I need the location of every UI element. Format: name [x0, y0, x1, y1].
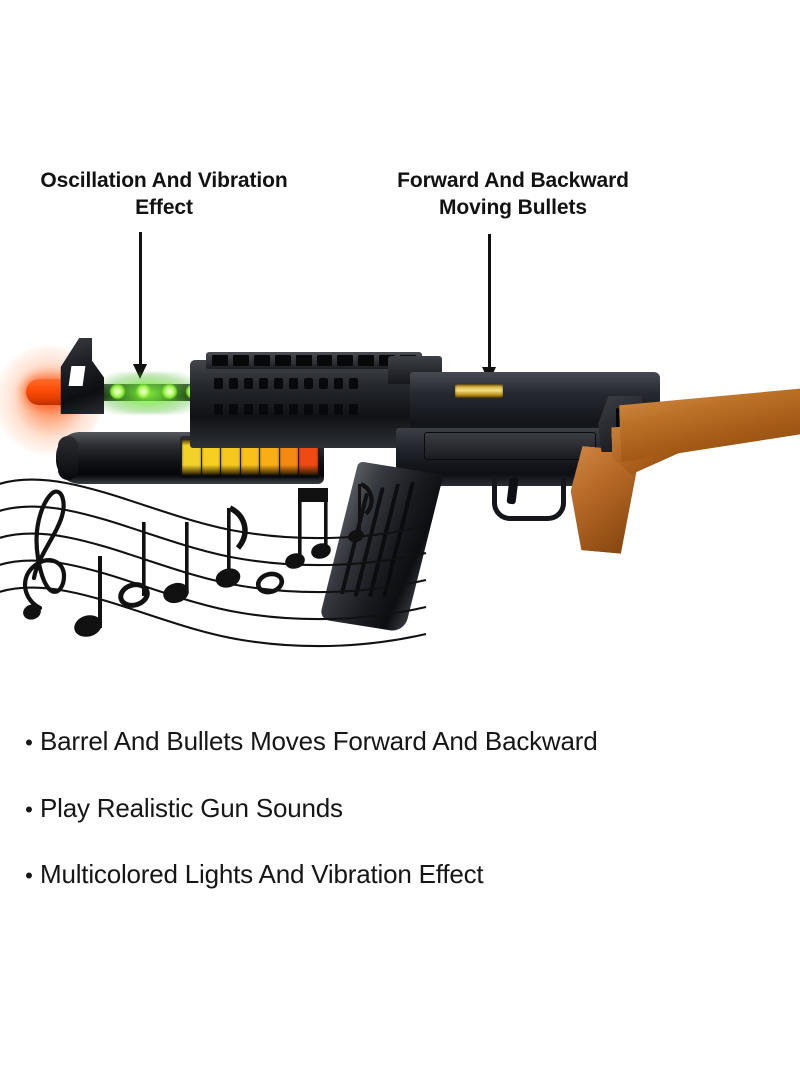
callout-label-oscillation: Oscillation And Vibration Effect [14, 168, 314, 222]
vent-slot [334, 404, 343, 415]
rail-notch [317, 355, 333, 366]
feature-text: Barrel And Bullets Moves Forward And Bac… [40, 726, 800, 757]
vent-slot [259, 404, 268, 415]
feature-text: Multicolored Lights And Vibration Effect [40, 859, 800, 890]
vent-slot [274, 404, 283, 415]
vent-slot [274, 378, 283, 389]
handguard-vent-row [214, 404, 358, 415]
dust-cover-panel [424, 432, 596, 460]
vent-slot [304, 404, 313, 415]
callout-label-line1: Forward And Backward [368, 168, 658, 195]
gold-cartridge-strip [455, 384, 503, 398]
vent-slot [214, 404, 223, 415]
product-infographic: Oscillation And Vibration Effect Forward… [0, 0, 800, 1091]
rail-notch [358, 355, 374, 366]
vent-slot [349, 404, 358, 415]
trigger-guard [492, 476, 566, 521]
vent-slot [304, 378, 313, 389]
callout-label-moving-bullets: Forward And Backward Moving Bullets [368, 168, 658, 222]
product-image-toy-rifle [0, 300, 800, 660]
magazine-rib [382, 482, 415, 598]
bullet-glyph-icon: • [18, 865, 40, 887]
vent-slot [244, 404, 253, 415]
rail-notch [296, 355, 312, 366]
rail-notch [254, 355, 270, 366]
callout-label-line2: Effect [14, 195, 314, 222]
rail-notch [212, 355, 228, 366]
vent-slot [289, 378, 298, 389]
led-dot [110, 384, 125, 399]
led-dot [162, 384, 177, 399]
rail-notch [275, 355, 291, 366]
vent-slot [349, 378, 358, 389]
front-sight-aperture [69, 366, 86, 386]
vent-slot [214, 378, 223, 389]
callout-label-line2: Moving Bullets [368, 195, 658, 222]
rail-notch [233, 355, 249, 366]
feature-bullet-list: • Barrel And Bullets Moves Forward And B… [0, 726, 800, 926]
vent-slot [319, 378, 328, 389]
vent-slot [289, 404, 298, 415]
list-item: • Multicolored Lights And Vibration Effe… [0, 859, 800, 890]
bullet-glyph-icon: • [18, 732, 40, 754]
bullet-glyph-icon: • [18, 799, 40, 821]
vent-slot [229, 404, 238, 415]
curved-magazine [319, 461, 443, 632]
list-item: • Barrel And Bullets Moves Forward And B… [0, 726, 800, 757]
vent-slot [319, 404, 328, 415]
vent-slot [244, 378, 253, 389]
callout-label-line1: Oscillation And Vibration [14, 168, 314, 195]
vent-slot [229, 378, 238, 389]
magazine-rib [340, 493, 369, 595]
vent-slot [259, 378, 268, 389]
feature-text: Play Realistic Gun Sounds [40, 793, 800, 824]
rail-notch [337, 355, 353, 366]
led-dot [136, 384, 151, 399]
list-item: • Play Realistic Gun Sounds [0, 793, 800, 824]
magazine-rib [354, 487, 385, 597]
handguard-vent-row [214, 378, 358, 389]
vent-slot [334, 378, 343, 389]
